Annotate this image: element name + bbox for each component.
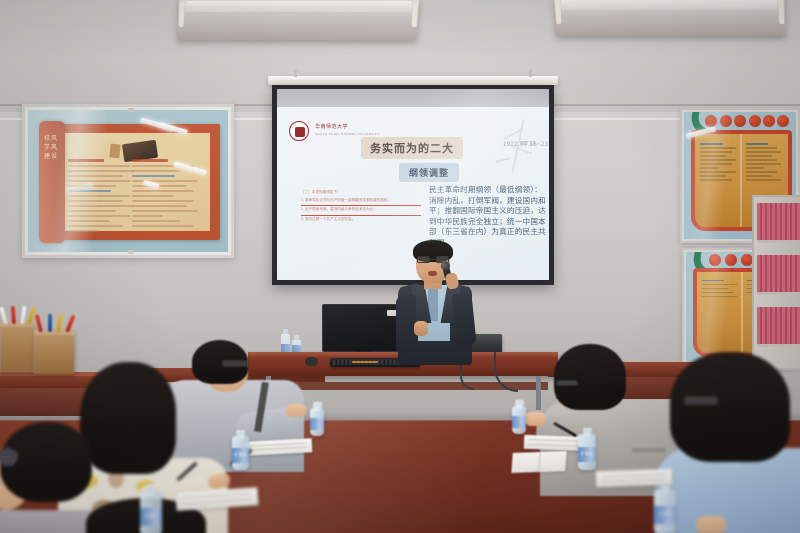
poster-heading-line [132, 159, 168, 162]
light-cap [778, 0, 784, 24]
scroll-vertical-text: 校风学风建设 [41, 135, 61, 162]
tissue-paper [11, 306, 16, 324]
light-cap [412, 2, 418, 27]
slide-top-band [277, 89, 549, 107]
bottle-neck [238, 434, 244, 439]
bookshelf-row [757, 203, 800, 243]
book-line [746, 155, 772, 157]
slide-left-line: 2. 无产阶级专政，直到阶级斗争完全消灭为止； [301, 206, 421, 216]
tissue-paper [0, 306, 8, 324]
slide-left-line: 3. 渐次达到一个共产主义的社会。 [301, 216, 421, 224]
banner-dot [741, 254, 753, 266]
poster-line [132, 185, 187, 187]
poster-line [68, 225, 123, 227]
bookshelf-row [757, 255, 800, 295]
book-line [700, 167, 719, 169]
banner-dot [725, 254, 737, 266]
banner-dot [734, 115, 746, 127]
book-spine [740, 134, 742, 228]
tissue-paper [48, 314, 52, 332]
book-line [700, 151, 732, 153]
water-bottle: 矿泉水 [578, 434, 596, 470]
university-name: 华南师范大学 SOUTH CHINA NORMAL UNIVERSITY [315, 123, 377, 136]
scroll-roll: 校风学风建设 [39, 121, 65, 243]
display-case-backing: 校风学风建设 [28, 110, 228, 252]
university-name-en: SOUTH CHINA NORMAL UNIVERSITY [315, 132, 377, 136]
tissue-paper [56, 314, 63, 332]
speaker-presenter [392, 243, 480, 363]
book-line [700, 171, 735, 173]
attendee-blue-shirt [660, 352, 800, 533]
bottle-neck [516, 404, 522, 409]
poster-line [132, 180, 198, 182]
notebook-rule [250, 443, 307, 447]
slide-left-text-block: （二）本党的纲领如下： 1. 革命军队必须与无产阶级一起推翻资本家阶级的政权， … [301, 189, 421, 223]
bottle-neck [584, 432, 590, 437]
bottle-neck [148, 490, 154, 495]
poster-line [132, 200, 194, 202]
poster-line [68, 180, 130, 182]
poster-line [132, 195, 173, 197]
bottle-label [512, 416, 526, 428]
hand [696, 516, 726, 533]
book-line [700, 179, 732, 181]
light-tube [561, 0, 778, 10]
water-bottle: 矿泉水 [232, 436, 249, 470]
fluorescent-light-icon [177, 0, 419, 40]
poster-line [132, 205, 187, 207]
bottle-neck [314, 406, 320, 411]
book-text-column [700, 143, 737, 183]
bag-contents [2, 306, 32, 326]
slide-corner-number: 195 12 [520, 141, 535, 148]
book-line [702, 296, 737, 298]
poster-line [132, 220, 180, 222]
book-spine [538, 452, 540, 472]
roller-bracket [294, 70, 297, 77]
notebook-rule [250, 447, 307, 451]
bottle-cap [283, 329, 288, 334]
book-line [700, 175, 726, 177]
book-spine [741, 272, 743, 354]
book-line [746, 147, 778, 149]
water-bottle [310, 408, 324, 436]
poster-line [68, 200, 123, 202]
book-line [746, 167, 765, 169]
bottle-neck [662, 488, 668, 493]
bottle-brand-text: 矿泉水 [140, 513, 162, 519]
poster-line [68, 175, 123, 177]
book-line [700, 143, 722, 145]
hand [286, 404, 306, 417]
hair [554, 344, 626, 410]
poster-line [68, 205, 134, 207]
bottle-label: 矿泉水 [578, 447, 596, 462]
poster-line [132, 215, 163, 217]
banner-dot [763, 115, 775, 127]
glasses-icon [556, 380, 578, 386]
bamboo-watermark-icon [487, 119, 539, 189]
hand [524, 412, 546, 426]
poster-line [132, 190, 194, 192]
poster-line [132, 170, 180, 172]
glasses-icon [684, 396, 718, 405]
bottle-brand-text: 矿泉水 [578, 451, 596, 457]
banner-dot [720, 115, 732, 127]
case-clip [128, 250, 134, 254]
notebook-rule [181, 493, 251, 499]
lecture-room-scene: 校风学风建设 [0, 0, 800, 533]
poster-paper [54, 133, 210, 231]
book-line [746, 159, 778, 161]
wall-display-case-left: 校风学风建设 [22, 104, 234, 258]
poster-line [68, 215, 130, 217]
bottle-label: 矿泉水 [654, 506, 676, 524]
bottle-brand-text: 矿泉水 [654, 511, 676, 517]
slide-left-line: （二）本党的纲领如下： [301, 189, 421, 197]
roller-bracket [529, 70, 532, 77]
poster-line [68, 230, 99, 232]
mouth [428, 271, 437, 276]
university-name-cn: 华南师范大学 [315, 123, 377, 130]
bottle-label: 矿泉水 [140, 508, 162, 526]
banner-dot [777, 115, 789, 127]
water-bottle: 矿泉水 [654, 490, 676, 533]
bottle-label [310, 418, 324, 430]
book-line [746, 171, 778, 173]
bookshelf-row [757, 307, 800, 347]
bamboo-scroll-poster: 校风学风建设 [43, 124, 220, 240]
book-line [700, 155, 726, 157]
book-text-column [702, 280, 738, 300]
poster-line [132, 225, 194, 227]
book-line [746, 163, 781, 165]
bottle-brand-text: 矿泉水 [232, 452, 249, 458]
book-line [746, 175, 772, 177]
book-line [702, 292, 733, 294]
book-line [700, 147, 735, 149]
tissue-paper [35, 314, 43, 332]
book-line [702, 280, 724, 282]
poster-line [68, 220, 109, 222]
light-cap [179, 2, 185, 27]
poster-line [132, 210, 198, 212]
light-tube [186, 1, 412, 12]
notebook-rule [600, 474, 665, 477]
book-line [702, 284, 737, 286]
fluorescent-light-icon [554, 0, 786, 36]
water-bottle [512, 406, 526, 434]
poster-line [68, 195, 130, 197]
seal-ring [289, 121, 309, 141]
university-seal-icon [289, 121, 309, 141]
book-line [700, 163, 732, 165]
speaker-arm-left [396, 295, 416, 353]
mouse[interactable] [305, 357, 318, 366]
notebook-rule [601, 479, 666, 482]
gift-bag [0, 322, 34, 372]
projector-screen-roller[interactable] [268, 76, 558, 85]
book-line [746, 143, 768, 145]
poster-subheading-line [132, 175, 175, 177]
book-icon [109, 144, 120, 159]
case-clip [128, 108, 134, 112]
book-line [746, 179, 781, 181]
speaker-hand-left [414, 321, 428, 336]
glasses-bridge [430, 259, 436, 260]
book-text-column [746, 143, 783, 183]
bookshelf [752, 195, 800, 370]
notebook-rule [181, 499, 251, 505]
slide-subtitle: 纲领调整 [399, 163, 459, 182]
watermark-leaf [495, 157, 511, 163]
poster-line [68, 210, 116, 212]
water-bottle: 矿泉水 [140, 492, 162, 533]
lens [417, 256, 430, 263]
tissue-paper [20, 306, 26, 324]
poster-heading-line [68, 159, 104, 162]
speaker-arm-right [451, 292, 476, 346]
banner-dot [749, 115, 761, 127]
bottle-label: 矿泉水 [232, 448, 249, 462]
keyboard-indicator [352, 361, 378, 363]
bag-contents [36, 314, 72, 334]
slide-right-text-block: 民主革命时期纲领（最低纲领）：消除内乱，打倒军阀，建设国内和平；推翻国际帝国主义… [429, 185, 547, 248]
slide-title: 务实而为的二大 [361, 137, 463, 159]
book-line [702, 288, 727, 290]
hair [670, 352, 790, 462]
book-line [746, 151, 781, 153]
open-book [511, 451, 566, 473]
slide-left-line: 1. 革命军队必须与无产阶级一起推翻资本家阶级的政权， [301, 197, 421, 207]
book-line [700, 159, 735, 161]
poster-line [68, 170, 134, 172]
poster-line [68, 165, 130, 167]
